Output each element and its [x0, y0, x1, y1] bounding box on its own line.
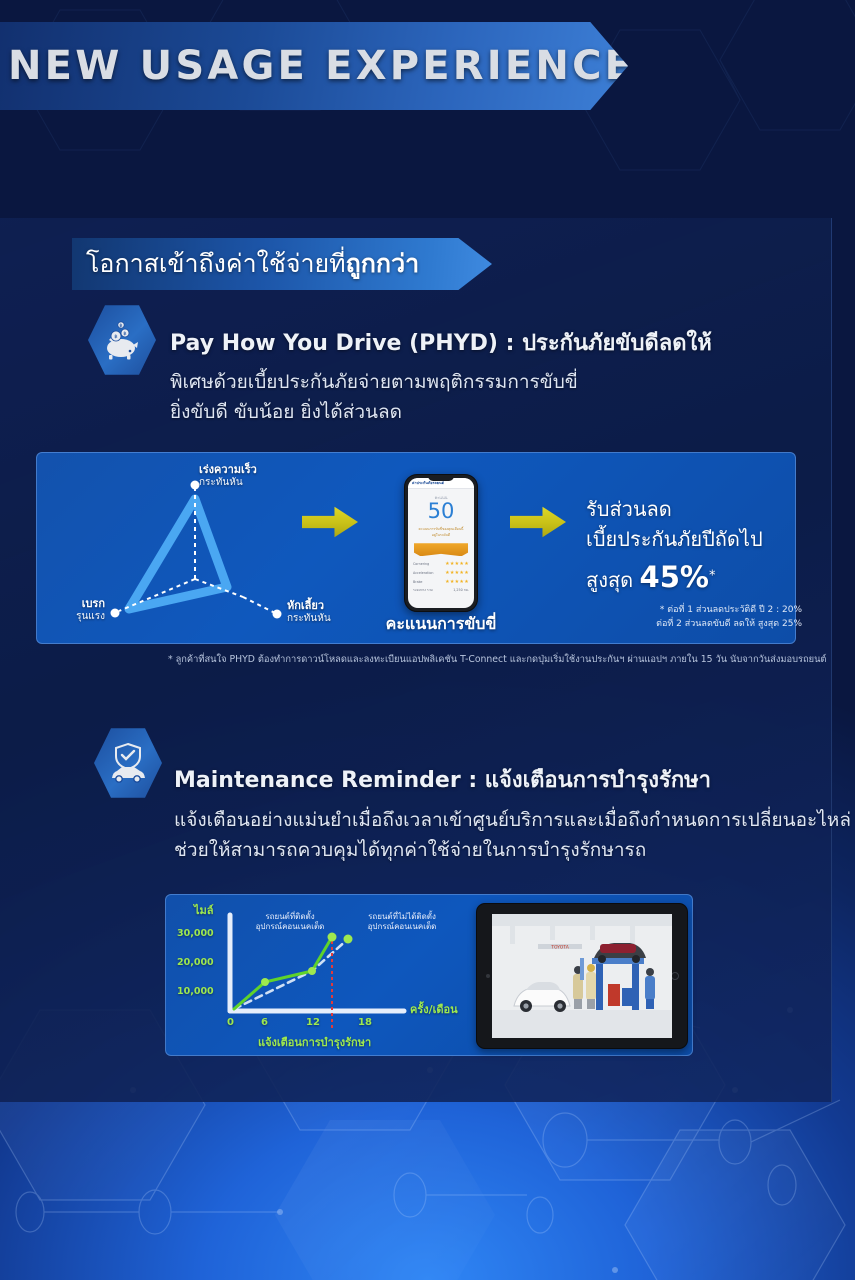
shield-car-glyph	[105, 740, 151, 786]
distance-row: ระยะทาง รวม 1,250 กม.	[408, 586, 474, 594]
maintenance-title: Maintenance Reminder : แจ้งเตือนการบำรุง…	[174, 762, 711, 797]
rating-row: Acceleration ★★★★★	[408, 568, 474, 577]
maintenance-body-line2: ช่วยให้สามารถควบคุมได้ทุกค่าใช้จ่ายในการ…	[174, 836, 646, 865]
maintenance-card: ไมล์ 30,000 20,000 10,000 0 6 12 18 ครั้…	[165, 894, 693, 1056]
service-center-illustration: TOYOTA	[492, 914, 672, 1038]
svg-text:฿: ฿	[119, 323, 122, 329]
tablet-home-button	[671, 972, 679, 980]
chart-xtick-18: 18	[358, 1017, 372, 1028]
phyd-title: Pay How You Drive (PHYD) : ประกันภัยขับด…	[170, 325, 712, 360]
discount-line3: สูงสุด 45%*	[586, 554, 796, 600]
award-ribbon-icon	[414, 543, 468, 556]
mileage-chart: ไมล์ 30,000 20,000 10,000 0 6 12 18 ครั้…	[172, 899, 472, 1053]
section-heading-bold: ถูกกว่า	[346, 249, 420, 278]
rating-stars: ★★★★★	[445, 561, 469, 567]
chart-caption: แจ้งเตือนการบำรุงรักษา	[258, 1033, 371, 1051]
svg-text:฿: ฿	[123, 331, 126, 337]
discount-note-1: * ต่อที่ 1 ส่วนลดประวัติดี ปี 2 : 20%	[596, 604, 802, 618]
rating-stars: ★★★★★	[445, 570, 469, 576]
maintenance-body-line1: แจ้งเตือนอย่างแม่นยำเมื่อถึงเวลาเข้าศูนย…	[174, 806, 851, 835]
phyd-body-line1: พิเศษด้วยเบี้ยประกันภัยจ่ายตามพฤติกรรมกา…	[170, 368, 578, 397]
tablet-camera-icon	[486, 974, 490, 978]
discount-value: 45%	[640, 560, 709, 594]
chart-xtick-0: 0	[227, 1017, 234, 1028]
svg-text:฿: ฿	[114, 334, 117, 340]
chart-annotation-not-connected: รถยนต์ที่ไม่ได้ติดตั้ง อุปกรณ์คอนเนคเต็ด	[354, 912, 450, 933]
service-center-photo: TOYOTA	[492, 914, 672, 1038]
discount-note-2: ต่อที่ 2 ส่วนลดขับดี ลดให้ สูงสุด 25%	[596, 618, 802, 632]
rating-row: Brake ★★★★★	[408, 577, 474, 586]
phone-caption: คะแนนการขับขี่	[360, 612, 522, 637]
page-title: NEW USAGE EXPERIENCE	[0, 43, 635, 89]
triangle-label-accel: เร่งความเร็ว กระทันหัน	[199, 463, 257, 489]
phone-mockup: ค่าประกันภัยรถยนต์ คะแนน 50 คะแนนการขับข…	[404, 474, 478, 612]
svg-text:TOYOTA: TOYOTA	[550, 945, 569, 951]
chart-ylabel: ไมล์	[194, 901, 214, 919]
phone-screen: ค่าประกันภัยรถยนต์ คะแนน 50 คะแนนการขับข…	[408, 478, 474, 608]
section-heading-plain: โอกาสเข้าถึงค่าใช้จ่ายที่	[86, 249, 346, 278]
chart-xlabel: ครั้ง/เดือน	[410, 1000, 458, 1018]
tablet-mockup: TOYOTA	[476, 903, 688, 1049]
triangle-label-brake: เบรก รุนแรง	[49, 597, 105, 623]
discount-notes: * ต่อที่ 1 ส่วนลดประวัติดี ปี 2 : 20% ต่…	[596, 604, 802, 632]
chart-xtick-6: 6	[261, 1017, 268, 1028]
chart-ytick-10000: 10,000	[177, 986, 214, 997]
rating-label: Cornering	[413, 562, 429, 566]
rating-label: Brake	[413, 580, 422, 584]
rating-row: Cornering ★★★★★	[408, 559, 474, 568]
triangle-label-turn: หักเลี้ยว กระทันหัน	[287, 599, 331, 625]
rating-stars: ★★★★★	[445, 579, 469, 585]
header-banner: NEW USAGE EXPERIENCE	[0, 22, 628, 110]
piggy-bank-glyph: ฿฿฿	[100, 318, 144, 362]
slide-root: NEW USAGE EXPERIENCE โอกาสเข้าถึงค่าใช้จ…	[0, 0, 855, 1280]
phyd-body-line2: ยิ่งขับดี ขับน้อย ยิ่งได้ส่วนลด	[170, 398, 402, 427]
chart-xtick-12: 12	[306, 1017, 320, 1028]
score-note-2: อยู่ในระดับดี	[408, 533, 474, 538]
score-note-1: คะแนนการขับขี่ของคุณเดือนนี้	[408, 527, 474, 532]
distance-value: 1,250 กม.	[453, 588, 469, 593]
discount-line1: รับส่วนลด	[586, 494, 796, 524]
discount-block: รับส่วนลด เบี้ยประกันภัยปีถัดไป สูงสุด 4…	[586, 494, 796, 600]
section-heading: โอกาสเข้าถึงค่าใช้จ่ายที่ถูกกว่า	[72, 238, 492, 290]
chart-ytick-30000: 30,000	[177, 928, 214, 939]
chart-annotation-connected: รถยนต์ที่ติดตั้ง อุปกรณ์คอนเนคเต็ด	[250, 912, 330, 933]
phyd-footnote: * ลูกค้าที่สนใจ PHYD ต้องทำการดาวน์โหลดแ…	[168, 652, 828, 667]
driving-behavior-triangle: เร่งความเร็ว กระทันหัน เบรก รุนแรง หักเล…	[47, 459, 337, 639]
arrow-right-icon-2	[510, 505, 566, 539]
distance-label: ระยะทาง รวม	[413, 588, 433, 593]
discount-asterisk: *	[709, 568, 716, 583]
score-value: 50	[408, 501, 474, 522]
rating-label: Acceleration	[413, 571, 434, 575]
discount-line2: เบี้ยประกันภัยปีถัดไป	[586, 524, 796, 554]
phone-notch	[428, 475, 454, 481]
discount-prefix: สูงสุด	[586, 568, 633, 592]
chart-ytick-20000: 20,000	[177, 957, 214, 968]
